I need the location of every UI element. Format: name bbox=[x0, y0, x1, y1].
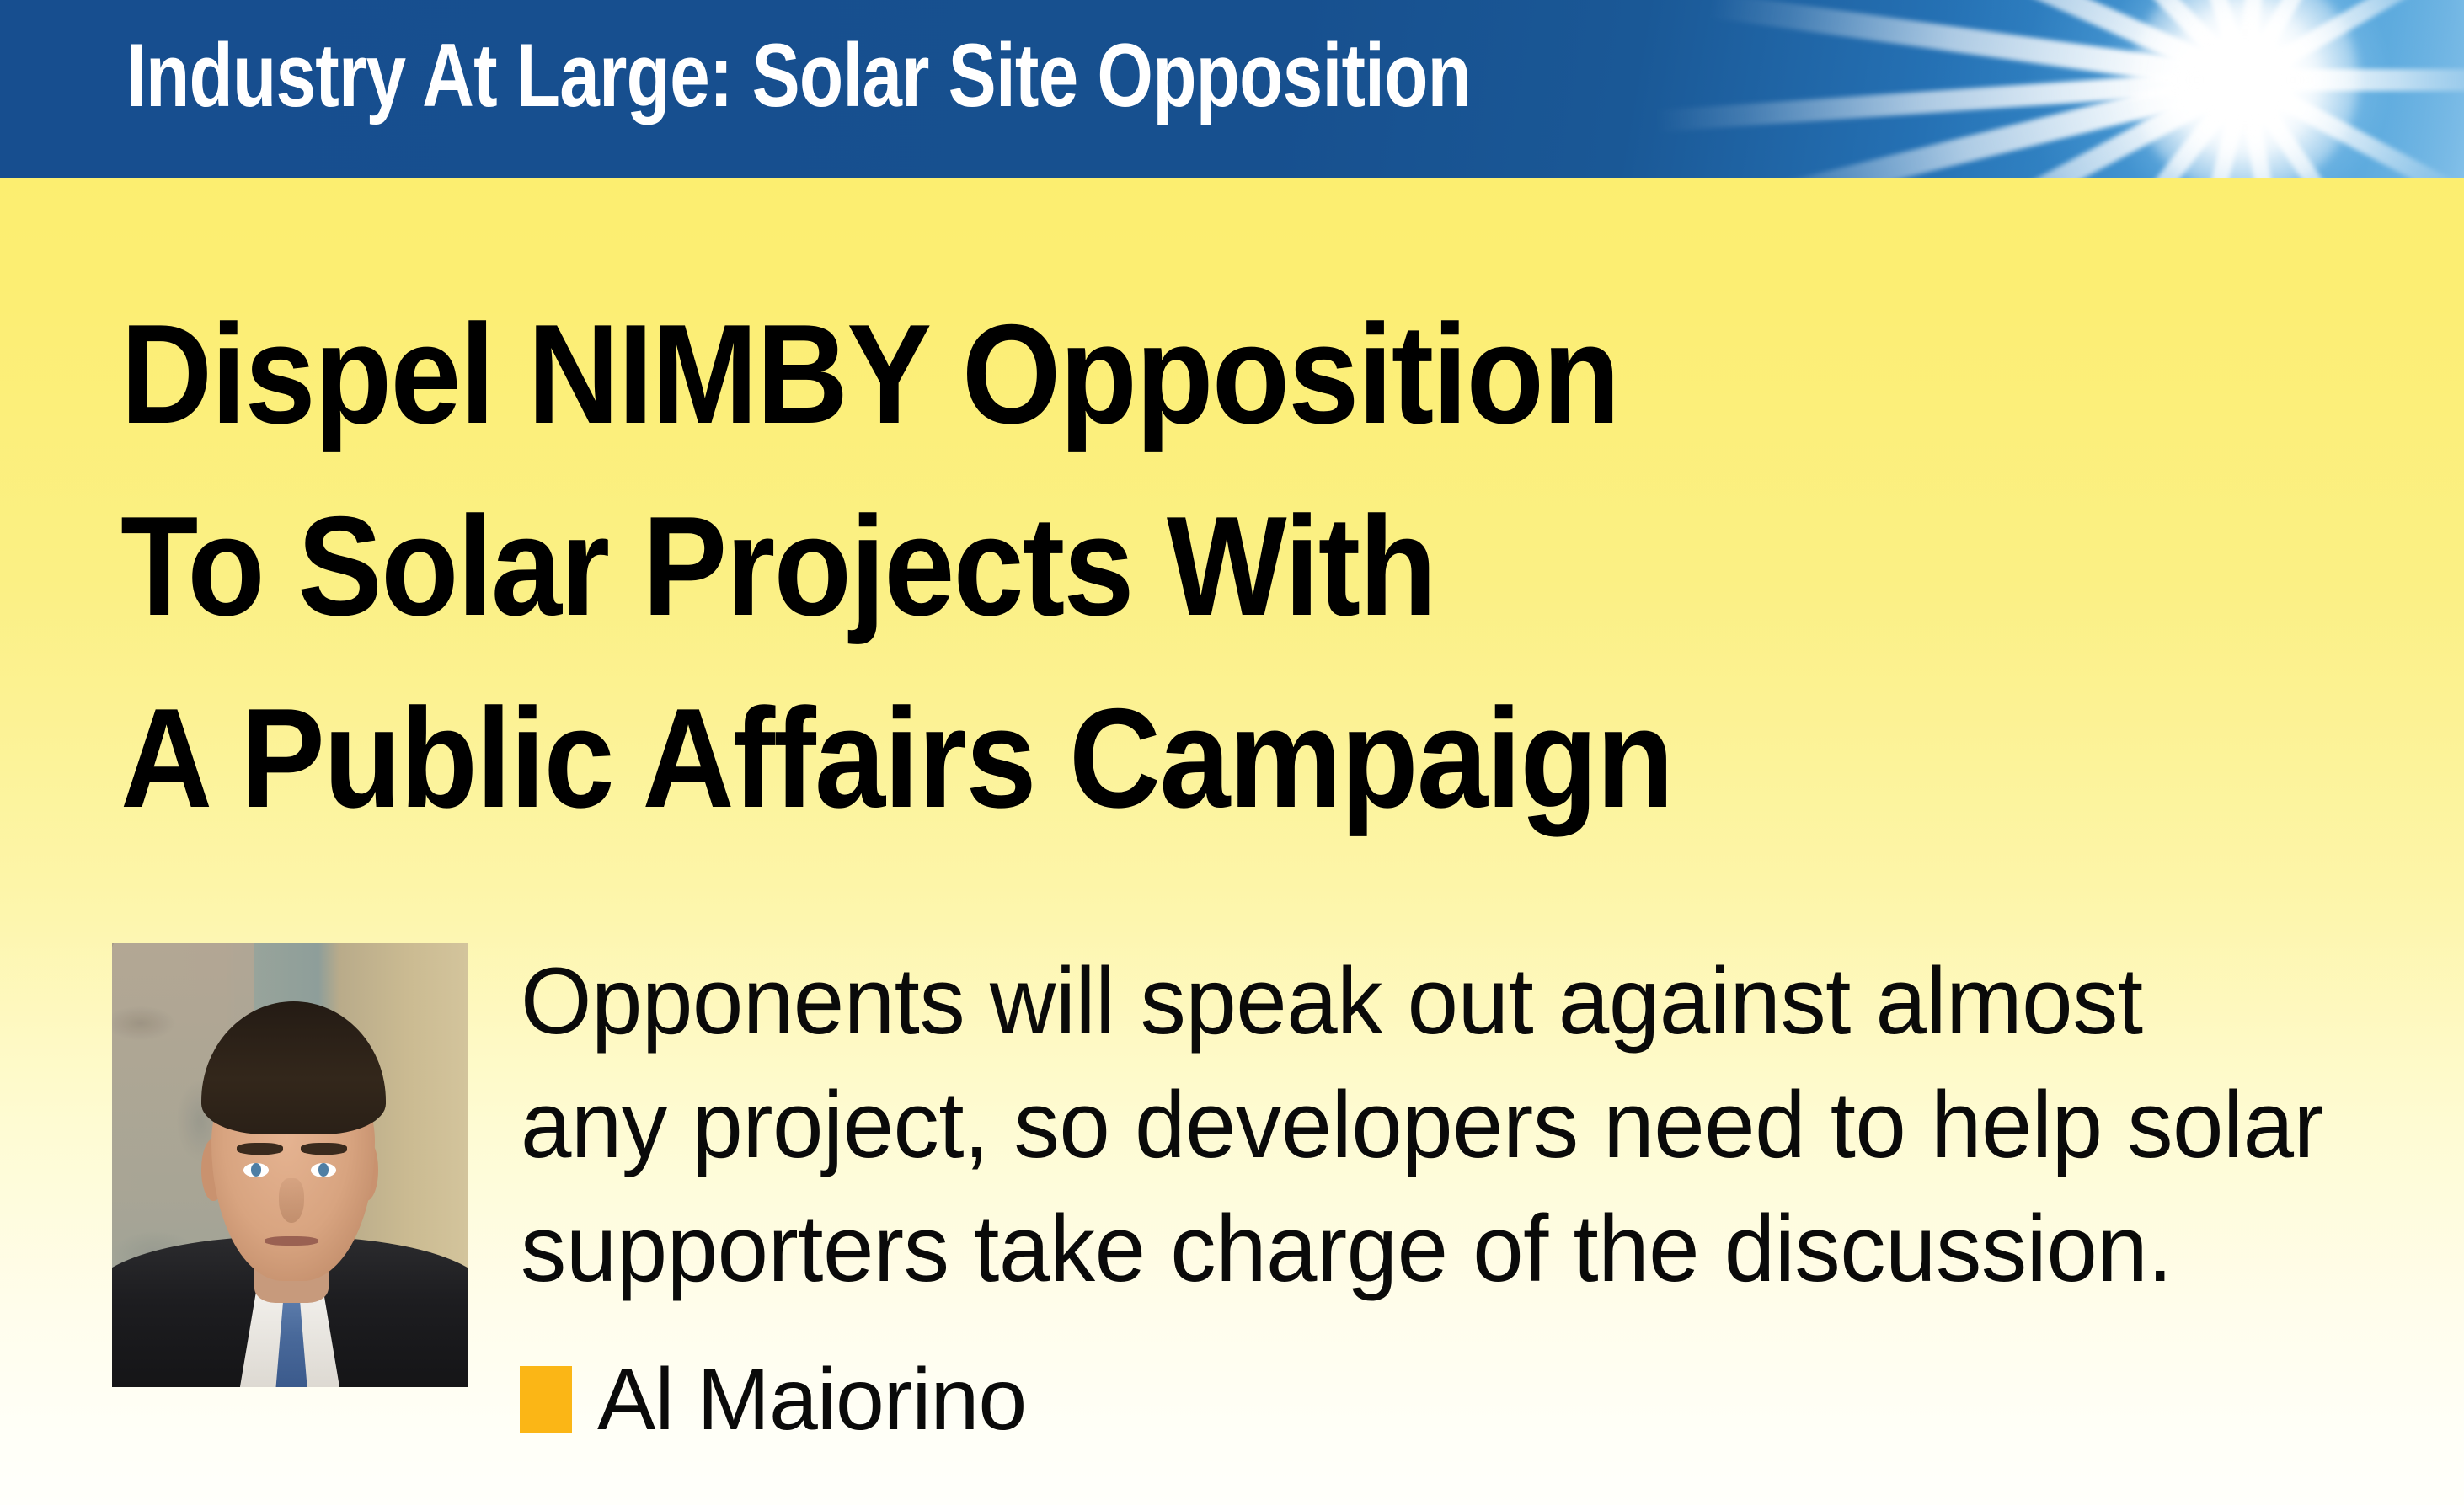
nose-shape bbox=[279, 1178, 304, 1223]
deck-line-1: Opponents will speak out against almost bbox=[521, 939, 2376, 1063]
mouth-shape bbox=[265, 1236, 318, 1246]
byline-bullet-square-icon bbox=[520, 1366, 572, 1433]
header-banner: Industry At Large: Solar Site Opposition bbox=[0, 0, 2464, 178]
headline-line-2: To Solar Projects With bbox=[120, 470, 2092, 662]
article-summary: Opponents will speak out against almost … bbox=[521, 939, 2376, 1310]
author-name: Al Maiorino bbox=[597, 1356, 1026, 1444]
eyebrow-right-shape bbox=[301, 1143, 347, 1155]
banner-kicker-title: Industry At Large: Solar Site Opposition bbox=[126, 30, 1471, 120]
author-photo bbox=[112, 943, 468, 1387]
page-title: Dispel NIMBY Opposition To Solar Project… bbox=[120, 278, 2092, 854]
sun-icon bbox=[2131, 0, 2359, 178]
article-teaser-card: Industry At Large: Solar Site Opposition… bbox=[0, 0, 2464, 1505]
deck-line-3: supporters take charge of the discussion… bbox=[521, 1187, 2376, 1310]
headline-line-1: Dispel NIMBY Opposition bbox=[120, 278, 2092, 470]
headline-line-3: A Public Affairs Campaign bbox=[120, 662, 2092, 854]
eyebrow-left-shape bbox=[237, 1143, 283, 1155]
deck-line-2: any project, so developers need to help … bbox=[521, 1063, 2376, 1187]
byline: Al Maiorino bbox=[520, 1356, 1026, 1444]
